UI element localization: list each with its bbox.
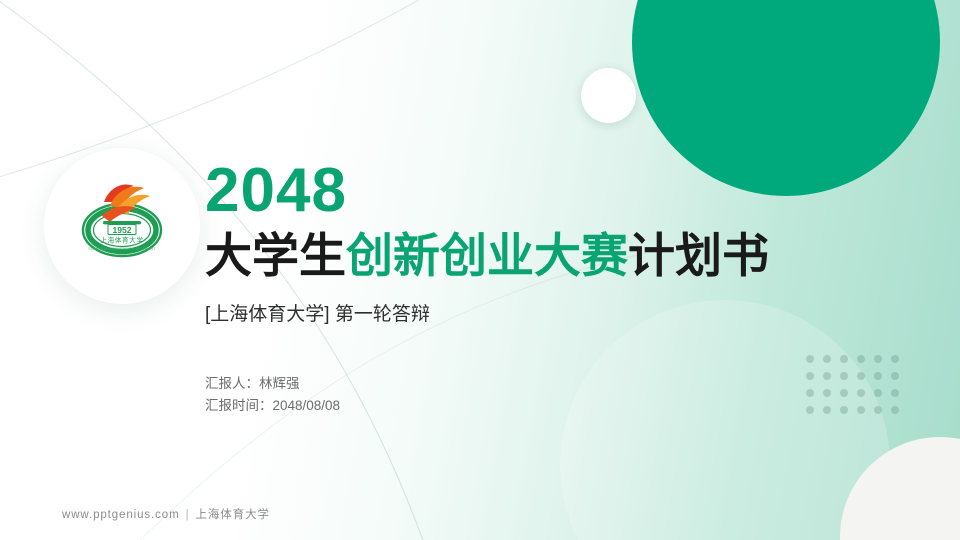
presentation-slide: 1952 上海体育大学 SHANGHAI UNIVERSITY OF SPORT… <box>0 0 960 540</box>
year-heading: 2048 <box>205 158 845 224</box>
svg-text:1952: 1952 <box>113 225 132 235</box>
title-block: 2048 大学生创新创业大赛计划书 [上海体育大学] 第一轮答辩 汇报人：林辉强… <box>205 158 845 417</box>
university-logo-icon: 1952 上海体育大学 SHANGHAI UNIVERSITY OF SPORT <box>72 172 172 272</box>
footer: www.pptgenius.com|上海体育大学 <box>62 506 270 522</box>
headline-lead: 大学生 <box>205 229 346 282</box>
page-title: 大学生创新创业大赛计划书 <box>205 228 845 284</box>
bottom-white-circle-decoration <box>840 437 960 540</box>
white-accent-circle-decoration <box>581 68 636 123</box>
footer-website: www.pptgenius.com <box>62 509 180 521</box>
subtitle: [上海体育大学] 第一轮答辩 <box>205 302 845 328</box>
footer-organization: 上海体育大学 <box>195 509 269 521</box>
svg-text:SHANGHAI UNIVERSITY OF SPORT: SHANGHAI UNIVERSITY OF SPORT <box>88 247 156 251</box>
headline-emphasis: 创新创业大赛 <box>346 229 628 282</box>
presenter-meta: 汇报人：林辉强 汇报时间：2048/08/08 <box>205 373 845 417</box>
footer-separator: | <box>186 509 190 521</box>
presentation-date: 汇报时间：2048/08/08 <box>205 395 845 417</box>
svg-text:上海体育大学: 上海体育大学 <box>100 236 143 245</box>
presenter-name: 汇报人：林辉强 <box>205 373 845 395</box>
headline-tail: 计划书 <box>628 229 769 282</box>
